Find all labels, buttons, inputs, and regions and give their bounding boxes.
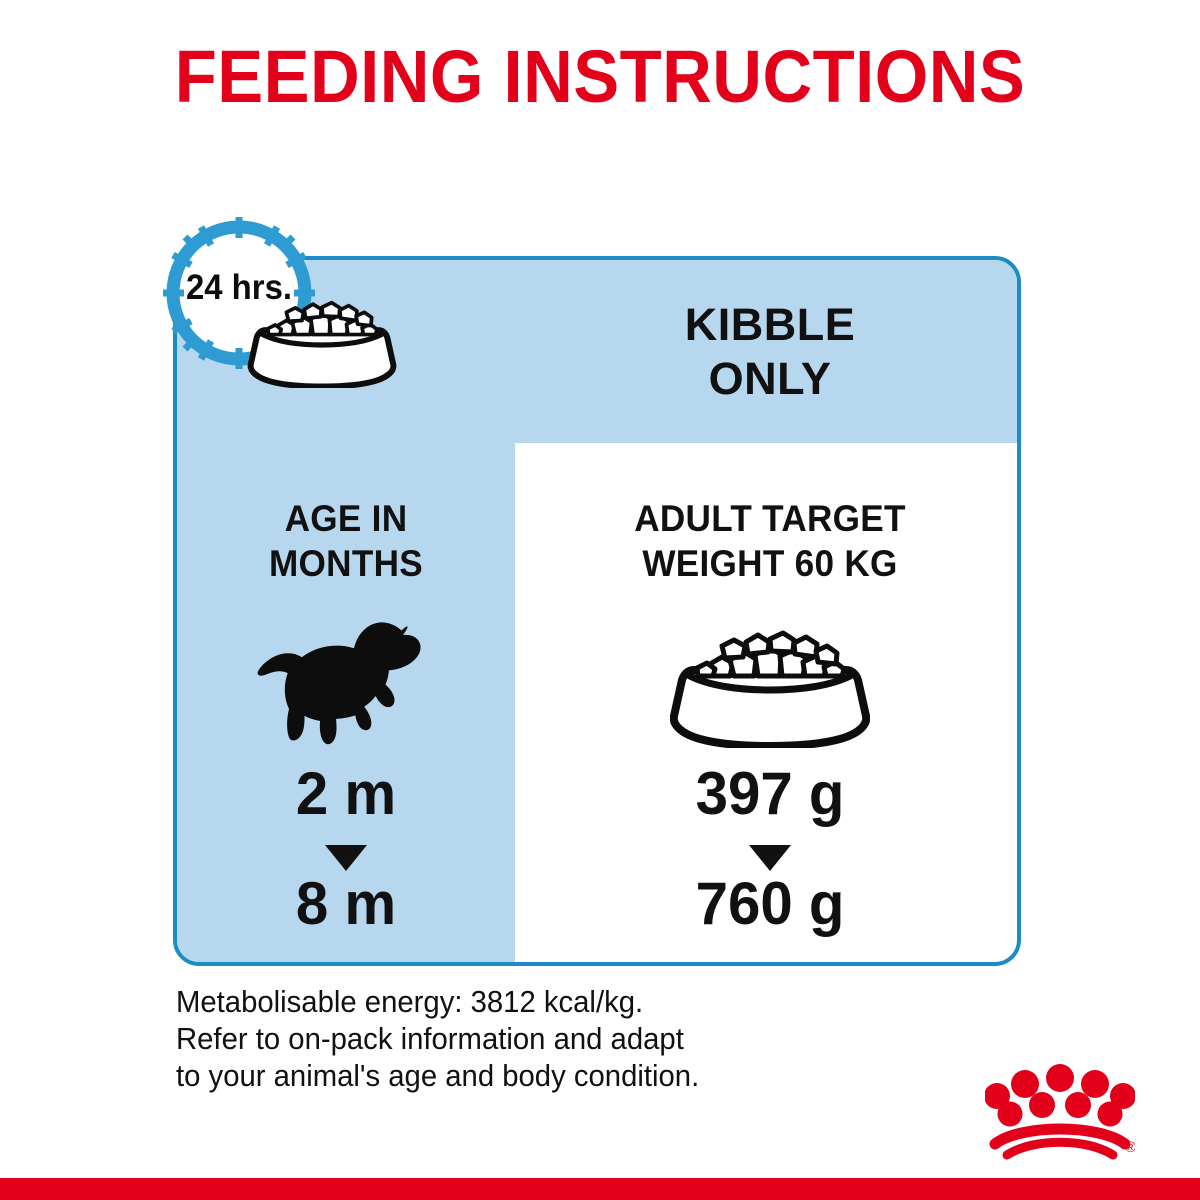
column-header-weight: ADULT TARGET WEIGHT 60 KG	[528, 496, 1013, 586]
weight-value-top: 397 g	[523, 763, 1018, 825]
puppy-silhouette-icon	[251, 616, 441, 748]
footnote-line-3: to your animal's age and body condition.	[176, 1058, 848, 1095]
registered-mark: ®	[1125, 1139, 1135, 1156]
footnote-line-2: Refer to on-pack information and adapt	[176, 1021, 848, 1058]
royal-canin-crown-logo: ®	[985, 1052, 1135, 1164]
column-header-weight-line-2: WEIGHT 60 KG	[528, 541, 1013, 586]
bowl-icon-wrap	[515, 598, 1021, 748]
kibble-pieces	[697, 633, 844, 676]
kibble-bowl-icon	[670, 624, 870, 748]
kibble-pieces	[268, 303, 377, 335]
badge-bowl-wrap	[247, 296, 397, 388]
kibble-only-line-1: KIBBLE	[515, 298, 1021, 352]
kibble-bowl-icon	[247, 296, 397, 388]
column-age-in-months: AGE IN MONTHS 2 m 8 m	[177, 443, 515, 966]
age-value-top: 2 m	[182, 763, 510, 825]
column-header-weight-line-1: ADULT TARGET	[528, 496, 1013, 541]
crown-logo-mark: ®	[985, 1052, 1135, 1164]
kibble-only-line-2: ONLY	[515, 352, 1021, 406]
weight-value-bottom: 760 g	[523, 873, 1018, 935]
kibble-only-heading: KIBBLE ONLY	[515, 298, 1021, 406]
column-header-age-line-2: MONTHS	[185, 541, 506, 586]
column-header-age-line-1: AGE IN	[185, 496, 506, 541]
puppy-icon-wrap	[177, 598, 515, 748]
bottom-red-bar	[0, 1178, 1200, 1200]
footnote: Metabolisable energy: 3812 kcal/kg. Refe…	[176, 984, 848, 1095]
age-value-bottom: 8 m	[182, 873, 510, 935]
column-header-age: AGE IN MONTHS	[185, 496, 506, 586]
crown-arc-lower	[1007, 1142, 1113, 1155]
age-range-arrow-icon	[325, 845, 367, 871]
crown-dots	[985, 1064, 1135, 1127]
column-adult-target-weight: ADULT TARGET WEIGHT 60 KG	[515, 443, 1021, 966]
weight-range-arrow-icon	[749, 845, 791, 871]
page-title: FEEDING INSTRUCTIONS	[42, 34, 1158, 119]
footnote-line-1: Metabolisable energy: 3812 kcal/kg.	[176, 984, 848, 1021]
